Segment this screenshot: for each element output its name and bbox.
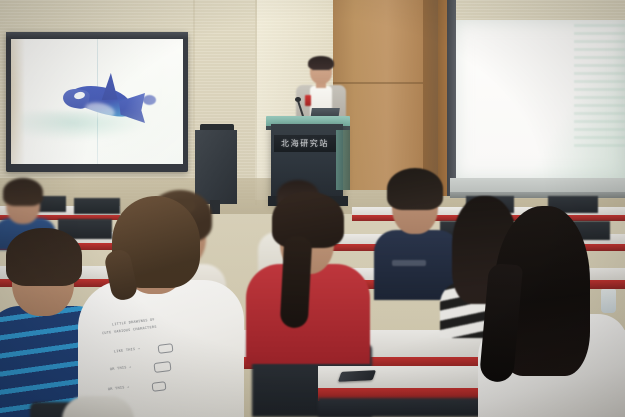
shirt-print (392, 260, 426, 266)
presenter-badge (305, 95, 311, 106)
podium-sign-text: 北海研究站 (281, 138, 329, 149)
doodle-sketch (158, 343, 174, 354)
wall-seam (255, 0, 257, 205)
doodle-sketch (152, 381, 167, 392)
lecture-hall-photo: 北海研究站 (0, 0, 625, 417)
projection-screen (456, 20, 625, 178)
podium-side-panel (336, 130, 350, 190)
presenter-hair (308, 56, 334, 70)
audience-member (246, 192, 370, 362)
microphone-icon (295, 97, 301, 102)
person-torso (62, 396, 134, 417)
screen-overexposure (11, 39, 183, 164)
person-hair (3, 178, 43, 206)
lcd-video-wall (6, 32, 188, 172)
projection-faint-content (574, 24, 625, 150)
doodle-sketch (153, 361, 171, 373)
display-bezel (6, 32, 188, 39)
podium-nameplate: 北海研究站 (274, 135, 336, 152)
display-screen (11, 39, 183, 164)
person-hair (6, 228, 82, 286)
person-hair (387, 168, 443, 210)
audience-member (478, 206, 625, 417)
smartphone (338, 370, 376, 382)
screen-frame-edge (447, 0, 456, 196)
glasses-icon (312, 69, 330, 73)
audience-member-partial (62, 382, 134, 417)
ponytail (280, 235, 313, 328)
